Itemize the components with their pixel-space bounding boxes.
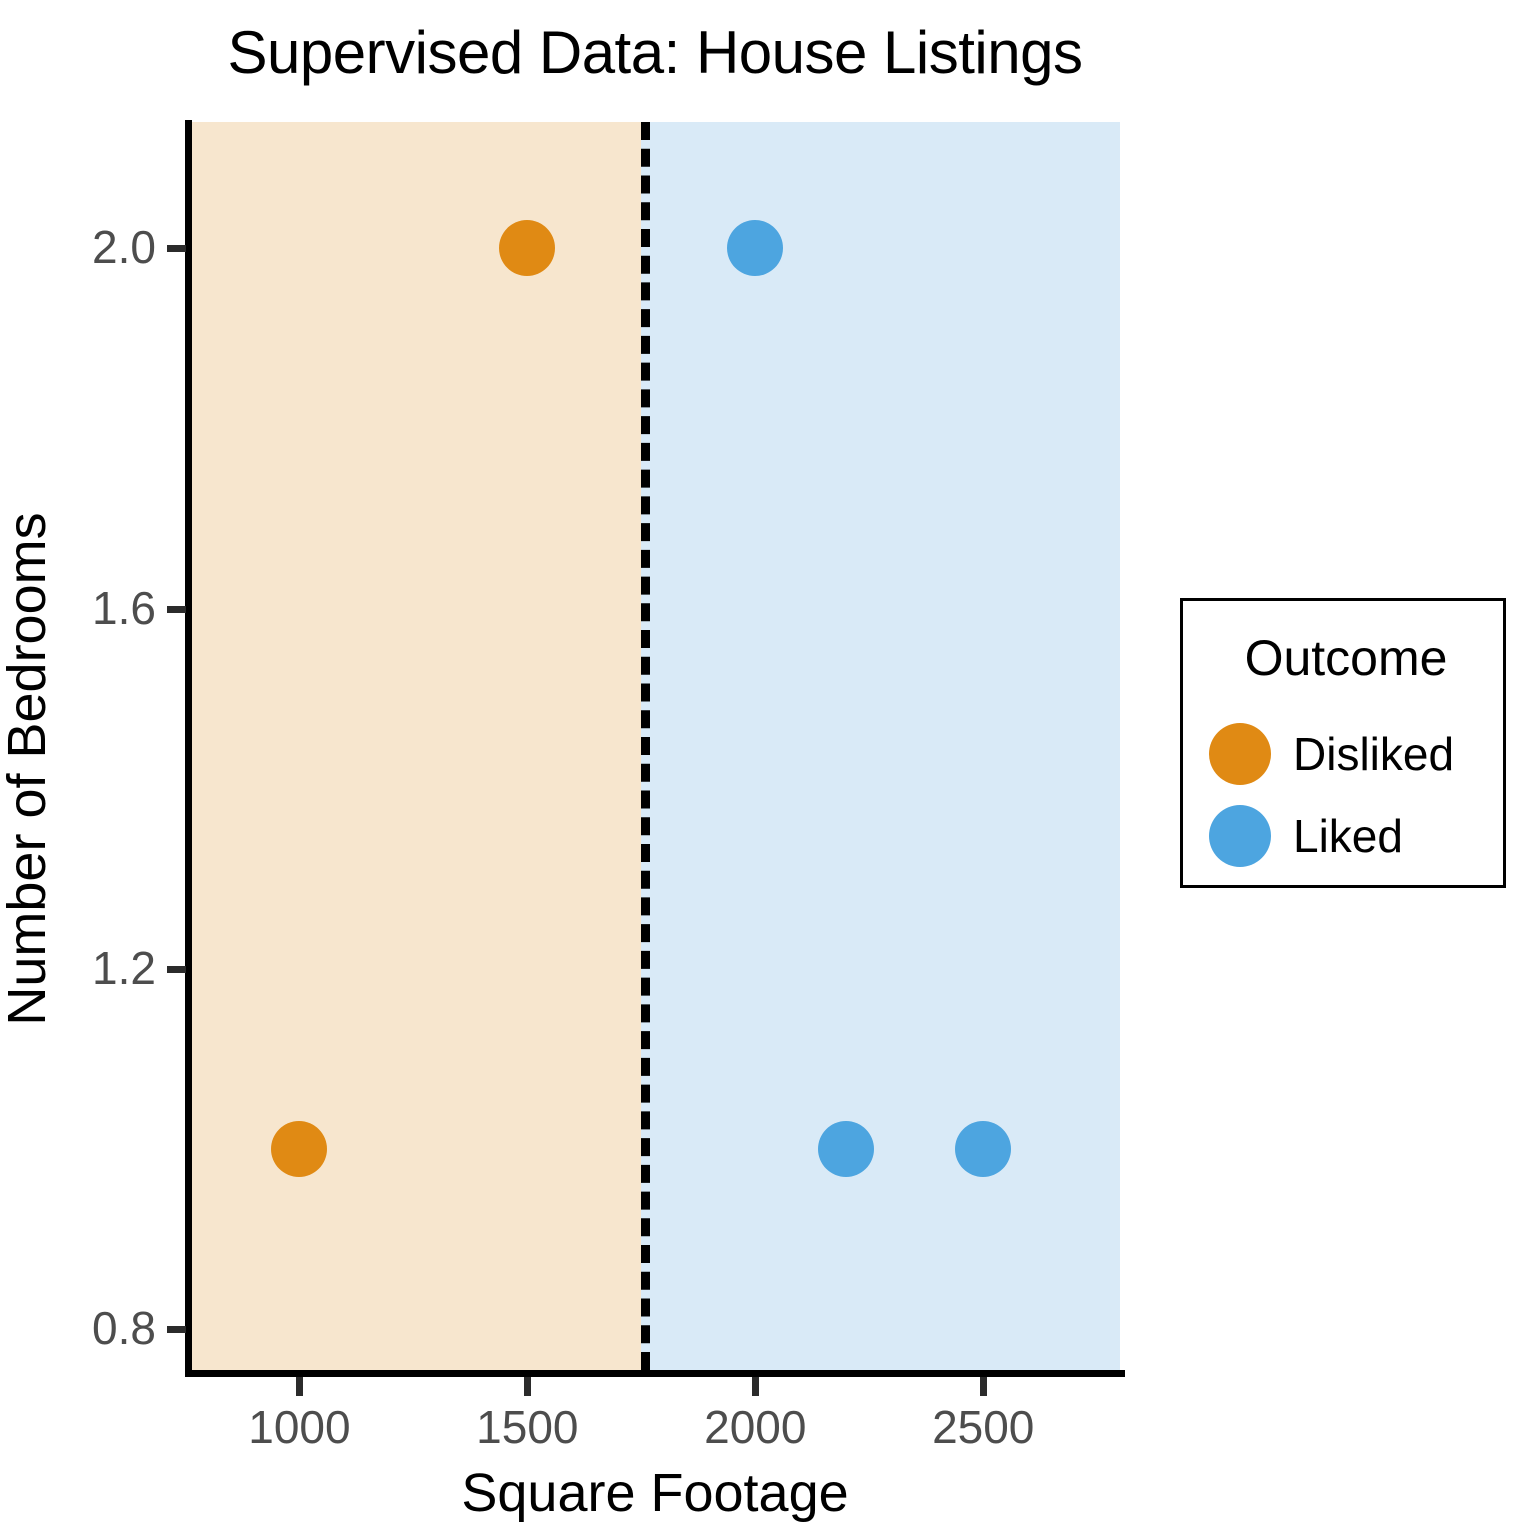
x-axis-line <box>185 1370 1125 1377</box>
legend-label-disliked: Disliked <box>1293 727 1454 781</box>
y-tick-mark <box>167 1326 186 1333</box>
legend-title: Outcome <box>1183 629 1509 687</box>
x-tick-label: 1000 <box>189 1400 409 1454</box>
chart-figure: Supervised Data: House Listings 0.81.21.… <box>0 0 1536 1536</box>
x-tick-label: 2500 <box>873 1400 1093 1454</box>
x-tick-mark <box>980 1377 987 1396</box>
legend-swatch-liked-icon <box>1201 797 1279 875</box>
data-point-liked[interactable] <box>727 220 783 276</box>
plot-panel <box>190 122 1120 1370</box>
x-tick-mark <box>752 1377 759 1396</box>
legend-swatch-disliked-icon <box>1201 715 1279 793</box>
data-point-liked[interactable] <box>955 1121 1011 1177</box>
disliked-region <box>190 122 641 1370</box>
data-point-disliked[interactable] <box>499 220 555 276</box>
y-tick-mark <box>167 606 186 613</box>
decision-boundary-line <box>641 122 650 1370</box>
y-tick-mark <box>167 245 186 252</box>
y-tick-mark <box>167 966 186 973</box>
legend-entry-liked[interactable]: Liked <box>1201 795 1501 877</box>
x-axis-title: Square Footage <box>190 1462 1120 1524</box>
y-axis-line <box>185 120 192 1374</box>
legend-entry-disliked[interactable]: Disliked <box>1201 713 1501 795</box>
legend-label-liked: Liked <box>1293 809 1403 863</box>
liked-region <box>641 122 1120 1370</box>
data-point-liked[interactable] <box>818 1121 874 1177</box>
legend-dot-disliked-icon <box>1209 723 1271 785</box>
x-tick-mark <box>296 1377 303 1396</box>
x-tick-label: 2000 <box>645 1400 865 1454</box>
chart-title: Supervised Data: House Listings <box>190 18 1120 87</box>
y-axis-title: Number of Bedrooms <box>0 145 58 1393</box>
x-tick-label: 1500 <box>417 1400 637 1454</box>
x-tick-mark <box>524 1377 531 1396</box>
data-point-disliked[interactable] <box>271 1121 327 1177</box>
legend-box: Outcome Disliked Liked <box>1180 598 1506 888</box>
legend-dot-liked-icon <box>1209 805 1271 867</box>
